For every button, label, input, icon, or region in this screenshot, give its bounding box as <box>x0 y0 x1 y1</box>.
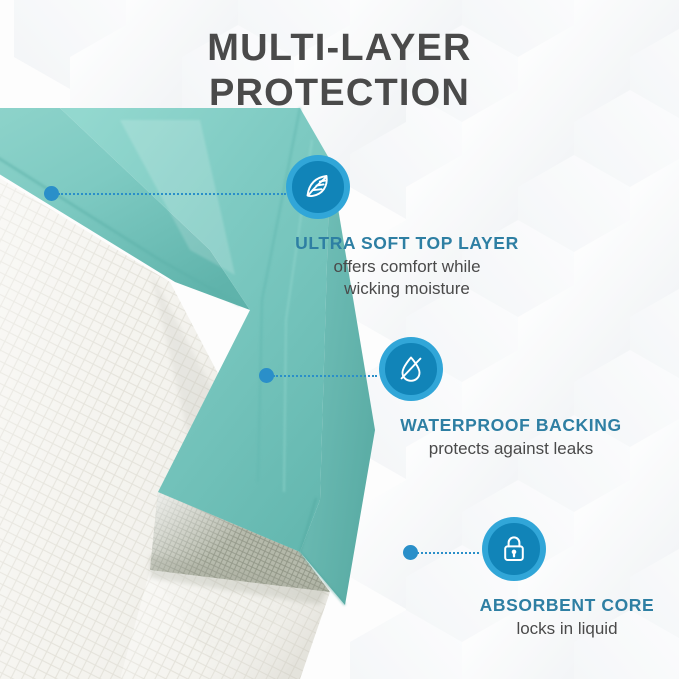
callout-2-heading: WATERPROOF BACKING <box>351 415 671 436</box>
leaf-icon-circle[interactable] <box>286 155 350 219</box>
callout-1-heading: ULTRA SOFT TOP LAYER <box>247 233 567 254</box>
underpad-photo <box>0 100 430 679</box>
callout-3-heading: ABSORBENT CORE <box>455 595 679 616</box>
leaf-icon <box>301 170 335 204</box>
infographic-canvas: ULTRA SOFT TOP LAYER offers comfort whil… <box>0 0 679 679</box>
callout-3-body: locks in liquid <box>455 618 679 640</box>
connector-line-1 <box>58 193 286 195</box>
connector-line-3 <box>417 552 479 554</box>
no-water-droplet-icon-circle[interactable] <box>379 337 443 401</box>
callout-3-text: ABSORBENT CORE locks in liquid <box>455 595 679 640</box>
callout-2-body: protects against leaks <box>351 438 671 460</box>
no-water-droplet-icon <box>394 352 428 386</box>
lock-icon <box>498 533 530 565</box>
callout-1-text: ULTRA SOFT TOP LAYER offers comfort whil… <box>247 233 567 301</box>
title-line-1: MULTI-LAYER <box>207 27 471 69</box>
lock-icon-circle[interactable] <box>482 517 546 581</box>
page-title: MULTI-LAYER PROTECTION <box>0 26 679 116</box>
connector-line-2 <box>273 375 377 377</box>
callout-1-body: offers comfort while wicking moisture <box>247 256 567 301</box>
connector-dot-1 <box>44 186 59 201</box>
callout-2-text: WATERPROOF BACKING protects against leak… <box>351 415 671 460</box>
title-line-2: PROTECTION <box>0 71 679 116</box>
connector-dot-2 <box>259 368 274 383</box>
connector-dot-3 <box>403 545 418 560</box>
